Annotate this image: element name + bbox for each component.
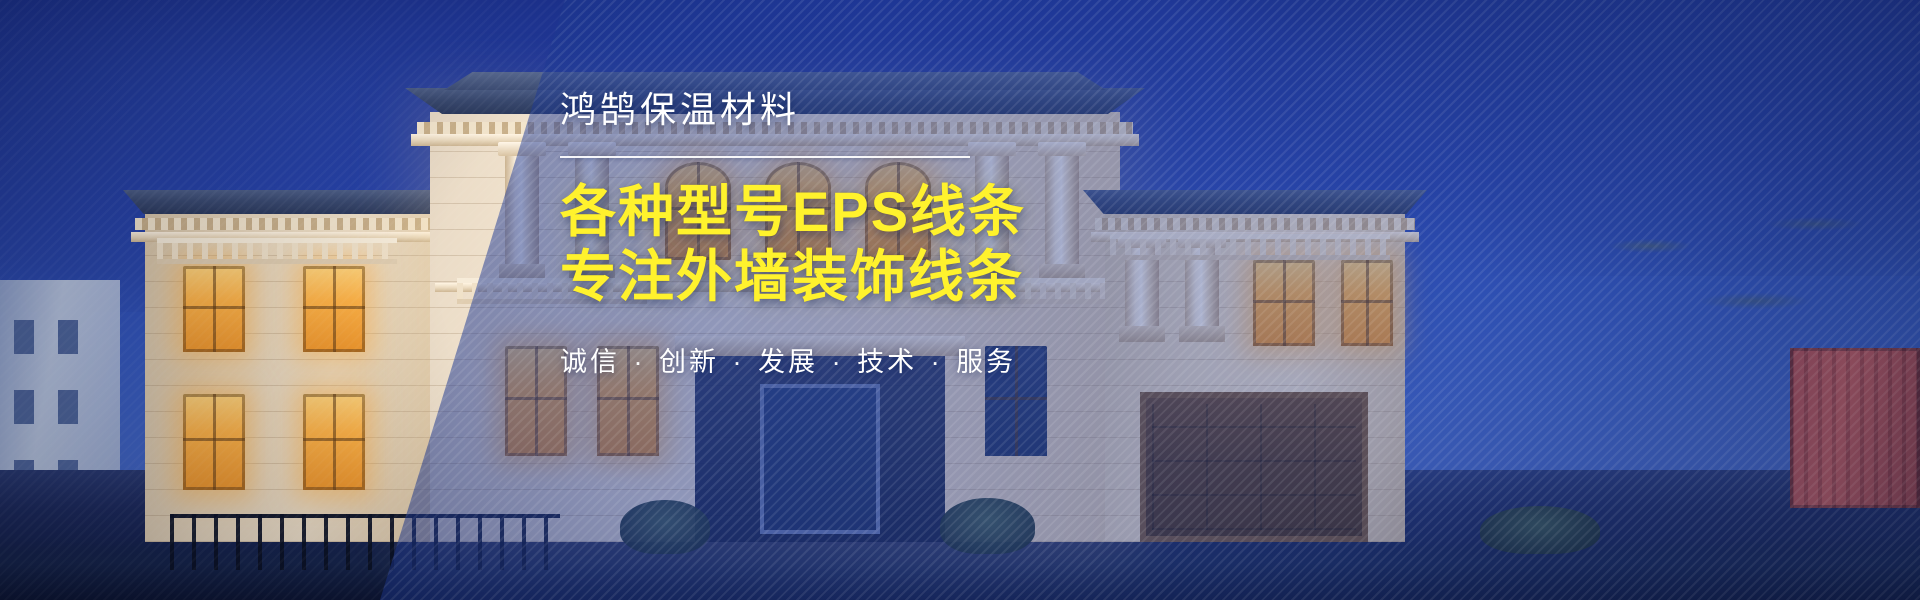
tagline-separator: ·: [631, 347, 649, 377]
roof-left: [123, 190, 467, 214]
divider-rule: [560, 156, 970, 158]
headline-line-1: 各种型号EPS线条: [560, 180, 1280, 245]
tagline-item: 服务: [956, 347, 1016, 377]
tagline-item: 诚信: [560, 347, 620, 377]
window-lit: [303, 266, 365, 352]
tagline-item: 技术: [857, 347, 917, 377]
tagline-separator: ·: [928, 347, 946, 377]
company-name: 鸿鹄保温材料: [560, 92, 1280, 128]
headline-block: 各种型号EPS线条 专注外墙装饰线条: [560, 180, 1280, 310]
window-lit: [183, 394, 245, 490]
window-lit: [183, 266, 245, 352]
hero-banner: 鸿鹄保温材料 各种型号EPS线条 专注外墙装饰线条 诚信 · 创新 · 发展 ·…: [0, 0, 1920, 600]
banner-copy: 鸿鹄保温材料 各种型号EPS线条 专注外墙装饰线条 诚信 · 创新 · 发展 ·…: [560, 92, 1280, 379]
headline-line-2: 专注外墙装饰线条: [560, 245, 1280, 310]
tagline-separator: ·: [730, 347, 748, 377]
tagline: 诚信 · 创新 · 发展 · 技术 · 服务: [560, 340, 1280, 379]
tagline-item: 发展: [758, 347, 818, 377]
dentil-band-left: [135, 218, 455, 230]
balustrade: [157, 238, 397, 264]
tagline-separator: ·: [829, 347, 847, 377]
window-lit: [303, 394, 365, 490]
tagline-item: 创新: [659, 347, 719, 377]
